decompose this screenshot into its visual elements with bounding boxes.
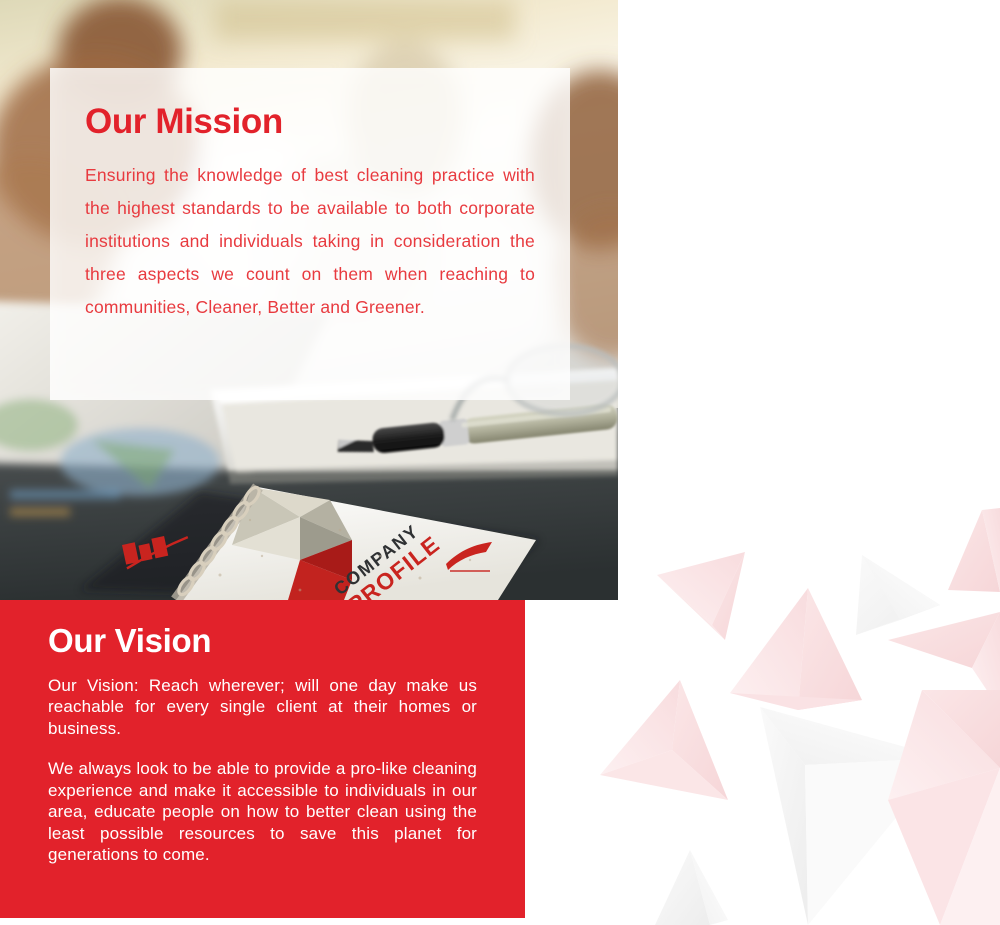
- vision-title: Our Vision: [48, 624, 477, 659]
- background-photo: COMPANY PROFILE: [0, 0, 618, 600]
- mission-body: Ensuring the knowledge of best cleaning …: [85, 159, 535, 324]
- vision-panel: Our Vision Our Vision: Reach wherever; w…: [0, 600, 525, 918]
- vision-paragraph-2: We always look to be able to provide a p…: [48, 758, 477, 866]
- slide-page: COMPANY PROFILE: [0, 0, 1000, 925]
- mission-card: Our Mission Ensuring the knowledge of be…: [50, 68, 570, 400]
- polygon-decoration: [600, 500, 1000, 925]
- vision-paragraph-1: Our Vision: Reach wherever; will one day…: [48, 675, 477, 740]
- mission-title: Our Mission: [85, 104, 535, 141]
